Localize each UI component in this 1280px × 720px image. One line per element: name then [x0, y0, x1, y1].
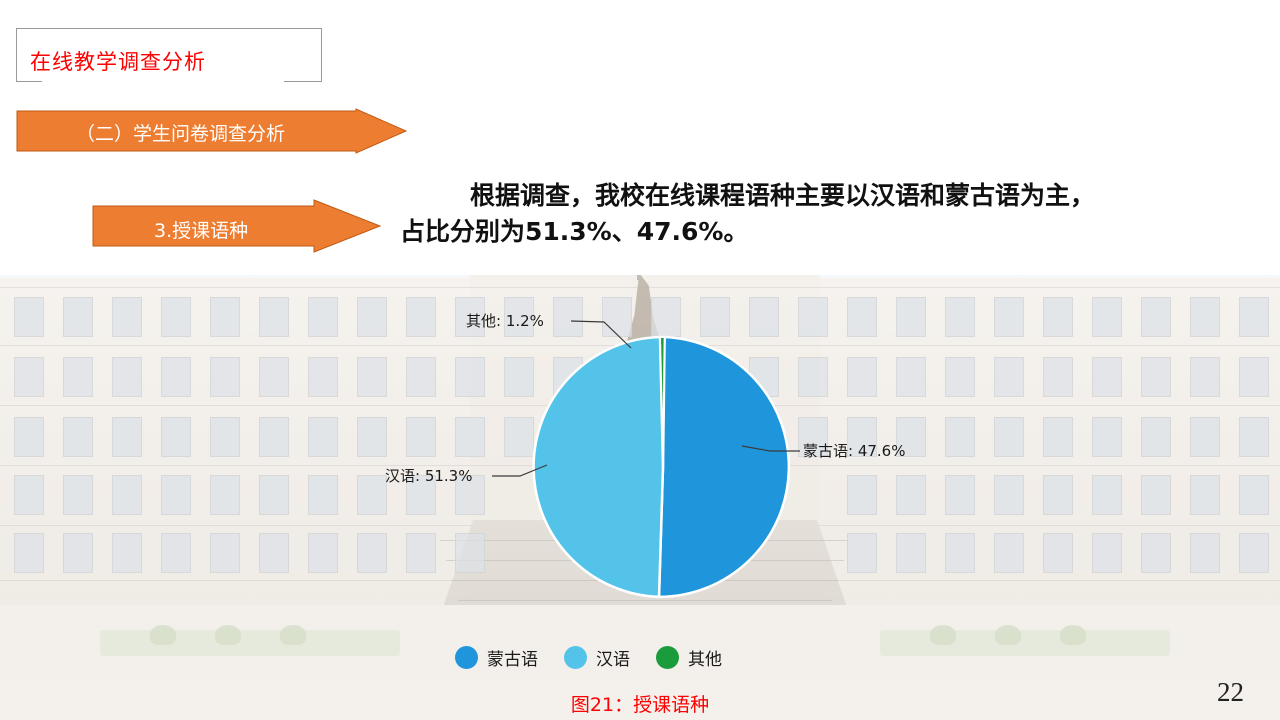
pie-label-mongolian: 蒙古语: 47.6% — [803, 440, 905, 461]
sub-arrow-banner[interactable]: 3.授课语种 — [92, 198, 382, 254]
chart-legend: 蒙古语 汉语 其他 — [455, 640, 855, 674]
section-arrow-banner[interactable]: （二）学生问卷调查分析 — [16, 108, 408, 154]
legend-label-mongolian: 蒙古语 — [487, 645, 538, 670]
page-number: 22 — [1217, 677, 1244, 708]
sub-arrow-label: 3.授课语种 — [154, 216, 248, 243]
legend-item-chinese[interactable]: 汉语 — [564, 645, 630, 670]
legend-item-other[interactable]: 其他 — [656, 645, 722, 670]
headline-paragraph: 根据调查，我校在线课程语种主要以汉语和蒙古语为主， 占比分别为51.3%、47.… — [400, 178, 1262, 250]
headline-line-2: 占比分别为51.3%、47.6%。 — [400, 214, 1262, 250]
legend-label-chinese: 汉语 — [596, 645, 630, 670]
page-title: 在线教学调查分析 — [30, 46, 206, 76]
legend-swatch-mongolian — [455, 646, 478, 669]
section-arrow-label: （二）学生问卷调查分析 — [76, 119, 285, 146]
slide: 在线教学调查分析 （二）学生问卷调查分析 3.授课语种 根据调查，我校在线课程语… — [0, 0, 1280, 720]
legend-label-other: 其他 — [688, 645, 722, 670]
pie-label-chinese: 汉语: 51.3% — [385, 465, 472, 486]
legend-swatch-other — [656, 646, 679, 669]
leader-mongolian — [742, 446, 800, 451]
figure-caption: 图21：授课语种 — [0, 690, 1280, 717]
headline-line-1: 根据调查，我校在线课程语种主要以汉语和蒙古语为主， — [400, 178, 1262, 214]
leader-chinese — [492, 465, 547, 476]
leader-other — [571, 321, 631, 348]
pie-label-other: 其他: 1.2% — [466, 310, 544, 331]
pie-chart: 其他: 1.2% 汉语: 51.3% 蒙古语: 47.6% 蒙古语 汉语 其他 — [0, 275, 1280, 720]
legend-item-mongolian[interactable]: 蒙古语 — [455, 645, 538, 670]
legend-swatch-chinese — [564, 646, 587, 669]
